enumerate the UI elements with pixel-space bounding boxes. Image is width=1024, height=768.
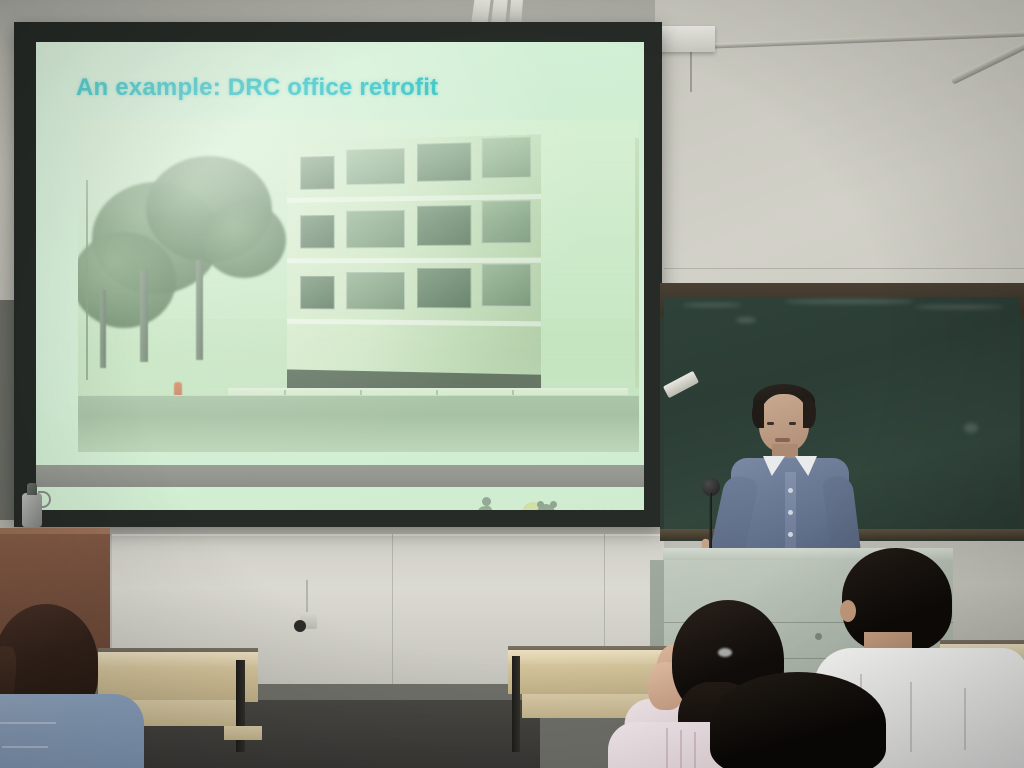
cyclist-figure-logo-icon xyxy=(466,496,508,510)
outlet-cord xyxy=(306,580,308,616)
wall-seam xyxy=(392,534,393,684)
water-bottle-cap xyxy=(27,483,37,495)
student-front-hair xyxy=(710,672,886,768)
water-bottle-body xyxy=(22,493,42,527)
student-right-ear xyxy=(840,600,856,622)
photo-building-side xyxy=(635,138,639,396)
photo-road xyxy=(78,396,639,452)
student-mid-hair-shine xyxy=(718,648,732,657)
slide-photo xyxy=(78,120,639,452)
student-left xyxy=(0,604,154,768)
presenter-mouth xyxy=(775,438,790,442)
presenter-hair-left xyxy=(752,400,764,428)
outlet-plug xyxy=(294,620,306,632)
panda-sun-logo-icon xyxy=(522,498,566,510)
projection-screen-frame: An example: DRC office retrofit xyxy=(14,22,662,527)
lecture-hall-scene: MITSUBISHI An example: DRC office retrof… xyxy=(0,0,1024,768)
projection-screen-surface: An example: DRC office retrofit xyxy=(36,42,644,510)
logo-text-block: 能源基金会中国 Energy Research China xyxy=(580,507,639,510)
slide-logo-strip: 能源基金会中国 Energy Research China xyxy=(466,494,644,510)
left-cabinet-edge xyxy=(0,528,110,534)
photo-tree xyxy=(202,202,286,278)
desk-footrest xyxy=(224,726,262,740)
slide-footer-bar xyxy=(36,465,644,487)
water-bottle xyxy=(22,483,42,527)
presenter-hair-right xyxy=(803,398,816,428)
slide-title: An example: DRC office retrofit xyxy=(76,74,438,102)
student-front xyxy=(700,672,910,768)
presenter-eye xyxy=(767,422,774,425)
logo-label-cn: 能源基金会中国 xyxy=(580,507,639,510)
photo-building xyxy=(287,134,541,409)
desk-leg xyxy=(512,656,520,752)
student-left-denim-jacket xyxy=(0,694,144,768)
wall-seam xyxy=(664,268,1024,269)
presenter-eye xyxy=(789,422,796,425)
presenter xyxy=(715,380,865,565)
